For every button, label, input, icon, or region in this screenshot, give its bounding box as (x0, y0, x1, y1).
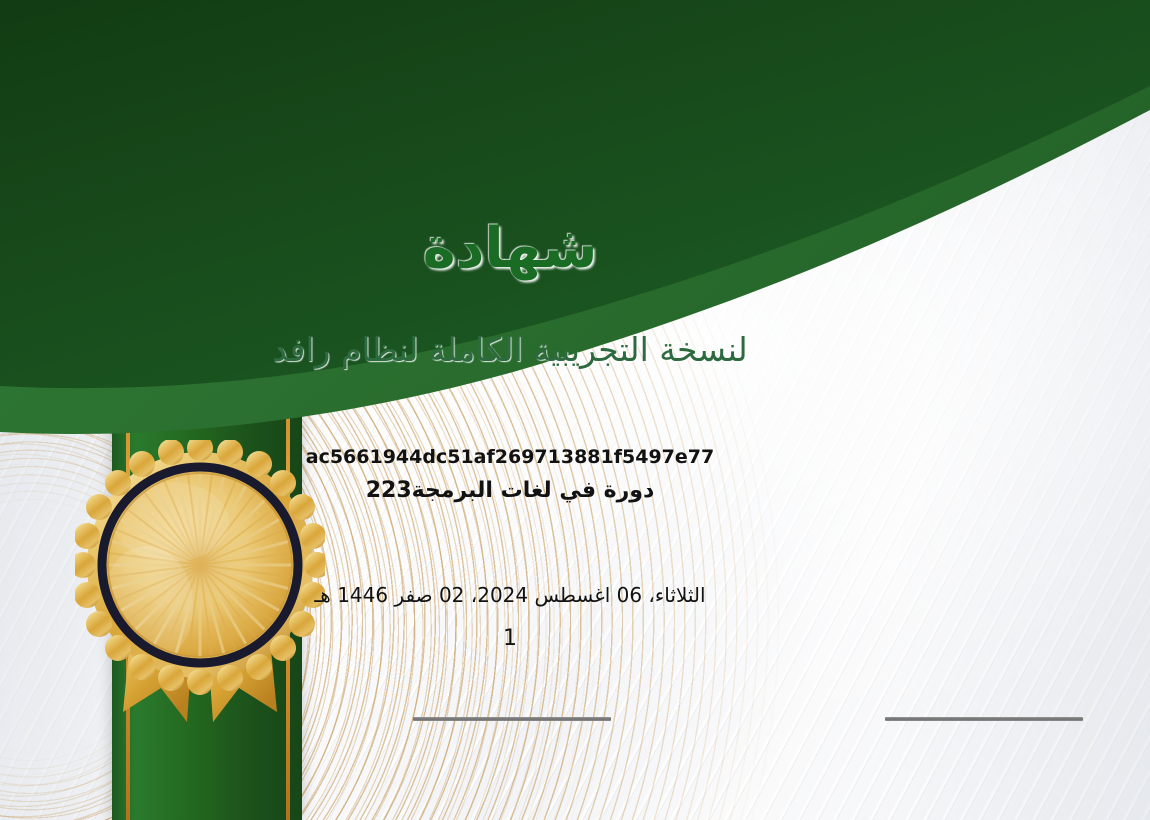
course-name: دورة في لغات البرمجة223 (0, 478, 1150, 503)
page-title: شهادة (0, 216, 1150, 281)
certificate-page: شهادة لنسخة التجريبية الكاملة لنظام رافد… (0, 0, 1150, 820)
signature-line-left (413, 717, 611, 721)
serial-number: 1 (0, 626, 1150, 651)
certificate-subtitle: لنسخة التجريبية الكاملة لنظام رافد (0, 330, 1150, 369)
issue-date: الثلاثاء، 06 اغسطس 2024، 02 صفر 1446 هـ (0, 583, 1150, 607)
certificate-hash: ac5661944dc51af269713881f5497e77 (0, 446, 1150, 468)
signature-line-right (885, 717, 1083, 721)
